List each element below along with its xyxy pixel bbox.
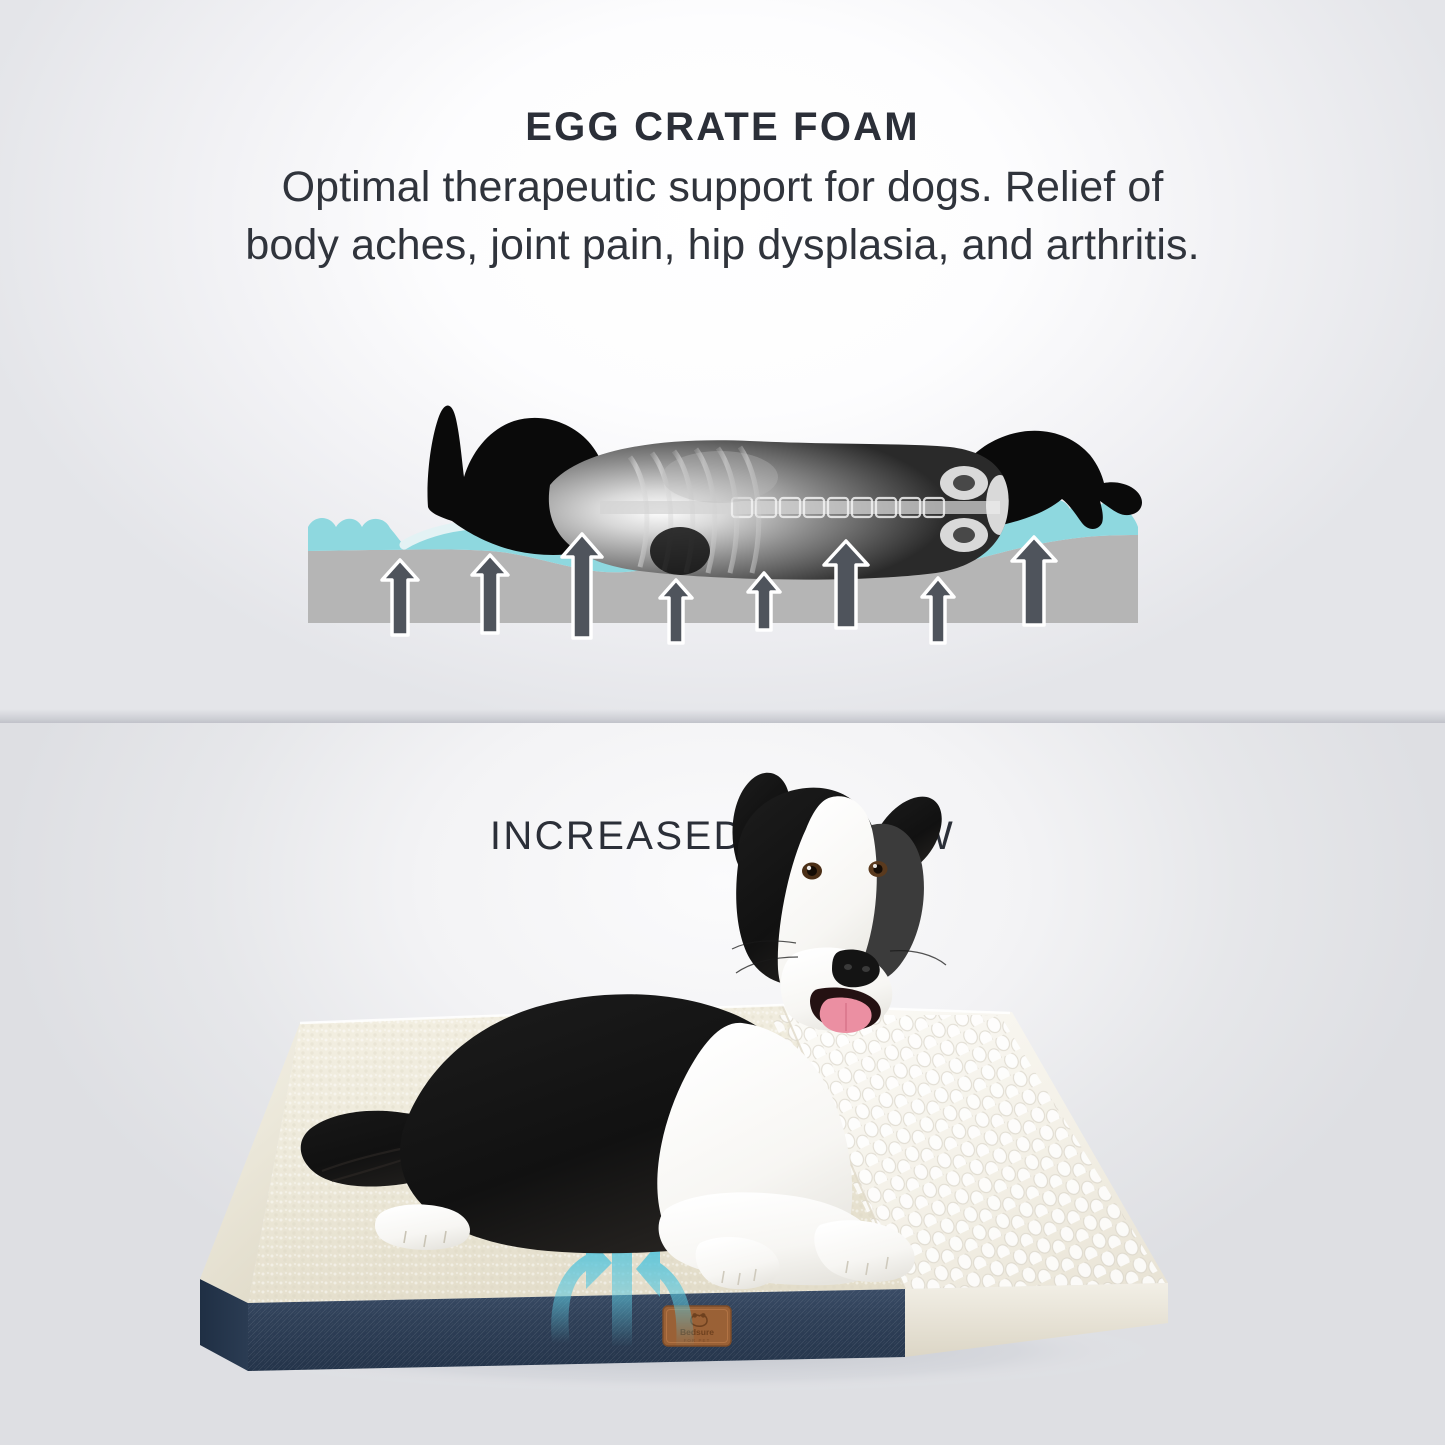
- product-feature-image: EGG CRATE FOAM Optimal therapeutic suppo…: [0, 0, 1445, 1445]
- panel-egg-crate-foam: EGG CRATE FOAM Optimal therapeutic suppo…: [0, 0, 1445, 723]
- subtitle-line-1: Optimal therapeutic support for dogs. Re…: [58, 158, 1388, 216]
- xray-overlay: [540, 433, 1020, 589]
- dog-on-egg-crate-bed-photo: Bedsure FOR PET: [0, 723, 1445, 1445]
- subtitle-block: Optimal therapeutic support for dogs. Re…: [58, 158, 1388, 275]
- dog-head: [732, 773, 946, 1033]
- brand-logo-patch: Bedsure FOR PET: [663, 1306, 731, 1346]
- pressure-support-cross-section: [300, 385, 1145, 660]
- page-title: EGG CRATE FOAM: [0, 105, 1445, 150]
- subtitle-line-2: body aches, joint pain, hip dysplasia, a…: [58, 216, 1388, 274]
